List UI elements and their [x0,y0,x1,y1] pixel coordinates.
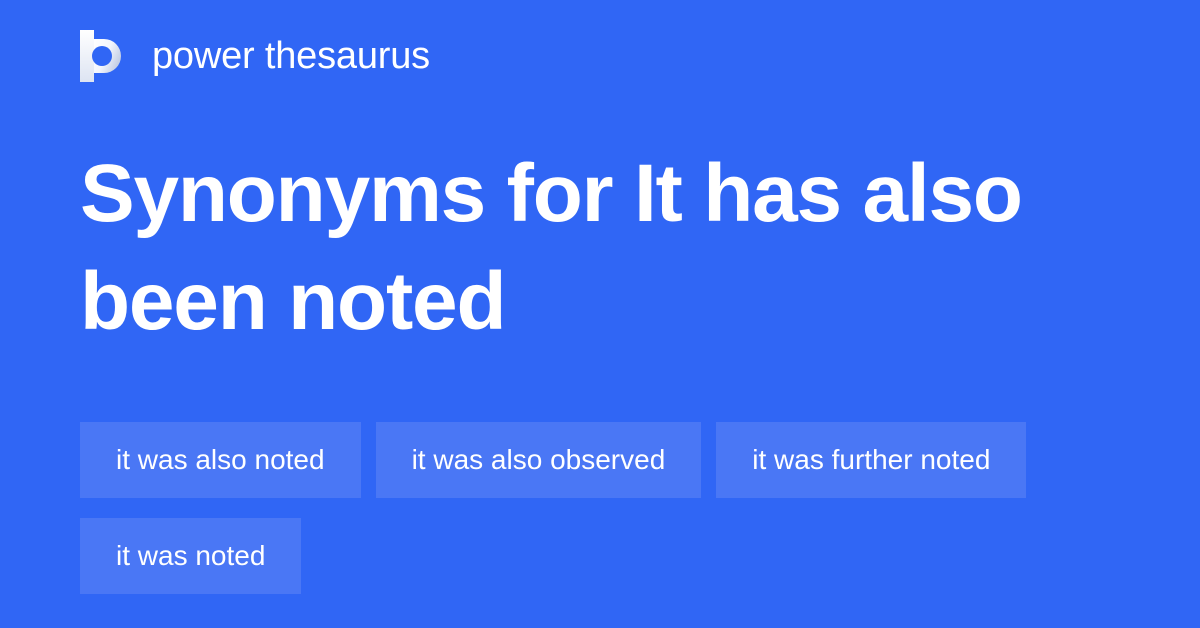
brand-name: power thesaurus [152,37,430,75]
synonym-chip[interactable]: it was noted [80,518,301,594]
synonym-chip[interactable]: it was further noted [716,422,1026,498]
brand-header[interactable]: power thesaurus [80,28,430,84]
synonym-chip[interactable]: it was also noted [80,422,361,498]
page-title: Synonyms for It has also been noted [80,140,1120,356]
og-preview-card: power thesaurus Synonyms for It has also… [0,0,1200,628]
synonym-chip-list: it was also noted it was also observed i… [80,422,1140,594]
power-thesaurus-b-logo-icon [80,30,126,82]
synonym-chip[interactable]: it was also observed [376,422,702,498]
